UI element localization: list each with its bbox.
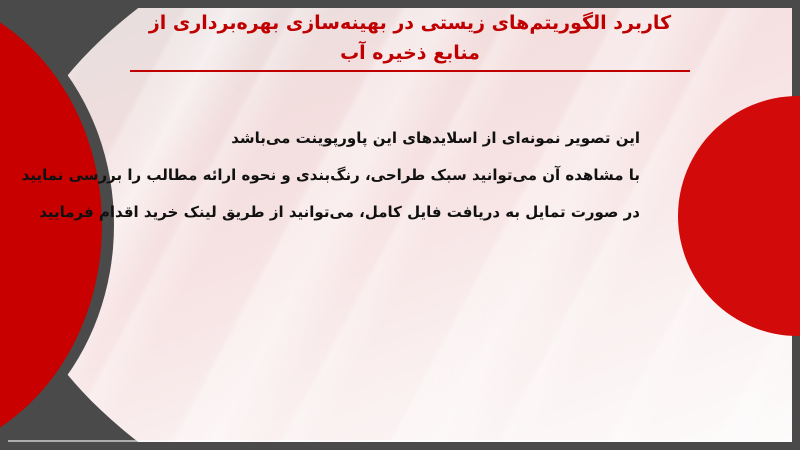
title-line-2: منابع ذخیره آب: [130, 38, 690, 68]
body-line-2: با مشاهده آن می‌توانید سبک طراحی، رنگ‌بن…: [140, 157, 640, 194]
title-underline-rule: [130, 70, 690, 72]
slide-title: کاربرد الگوریتم‌های زیستی در بهینه‌سازی …: [130, 8, 690, 72]
bottom-highlight-strip: [8, 440, 792, 442]
slide-body: این تصویر نمونه‌ای از اسلایدهای این پاور…: [140, 120, 640, 231]
presentation-slide: کاربرد الگوریتم‌های زیستی در بهینه‌سازی …: [0, 0, 800, 450]
title-line-1: کاربرد الگوریتم‌های زیستی در بهینه‌سازی …: [130, 8, 690, 38]
body-line-1: این تصویر نمونه‌ای از اسلایدهای این پاور…: [140, 120, 640, 157]
body-line-3: در صورت تمایل به دریافت فایل کامل، می‌تو…: [140, 194, 640, 231]
